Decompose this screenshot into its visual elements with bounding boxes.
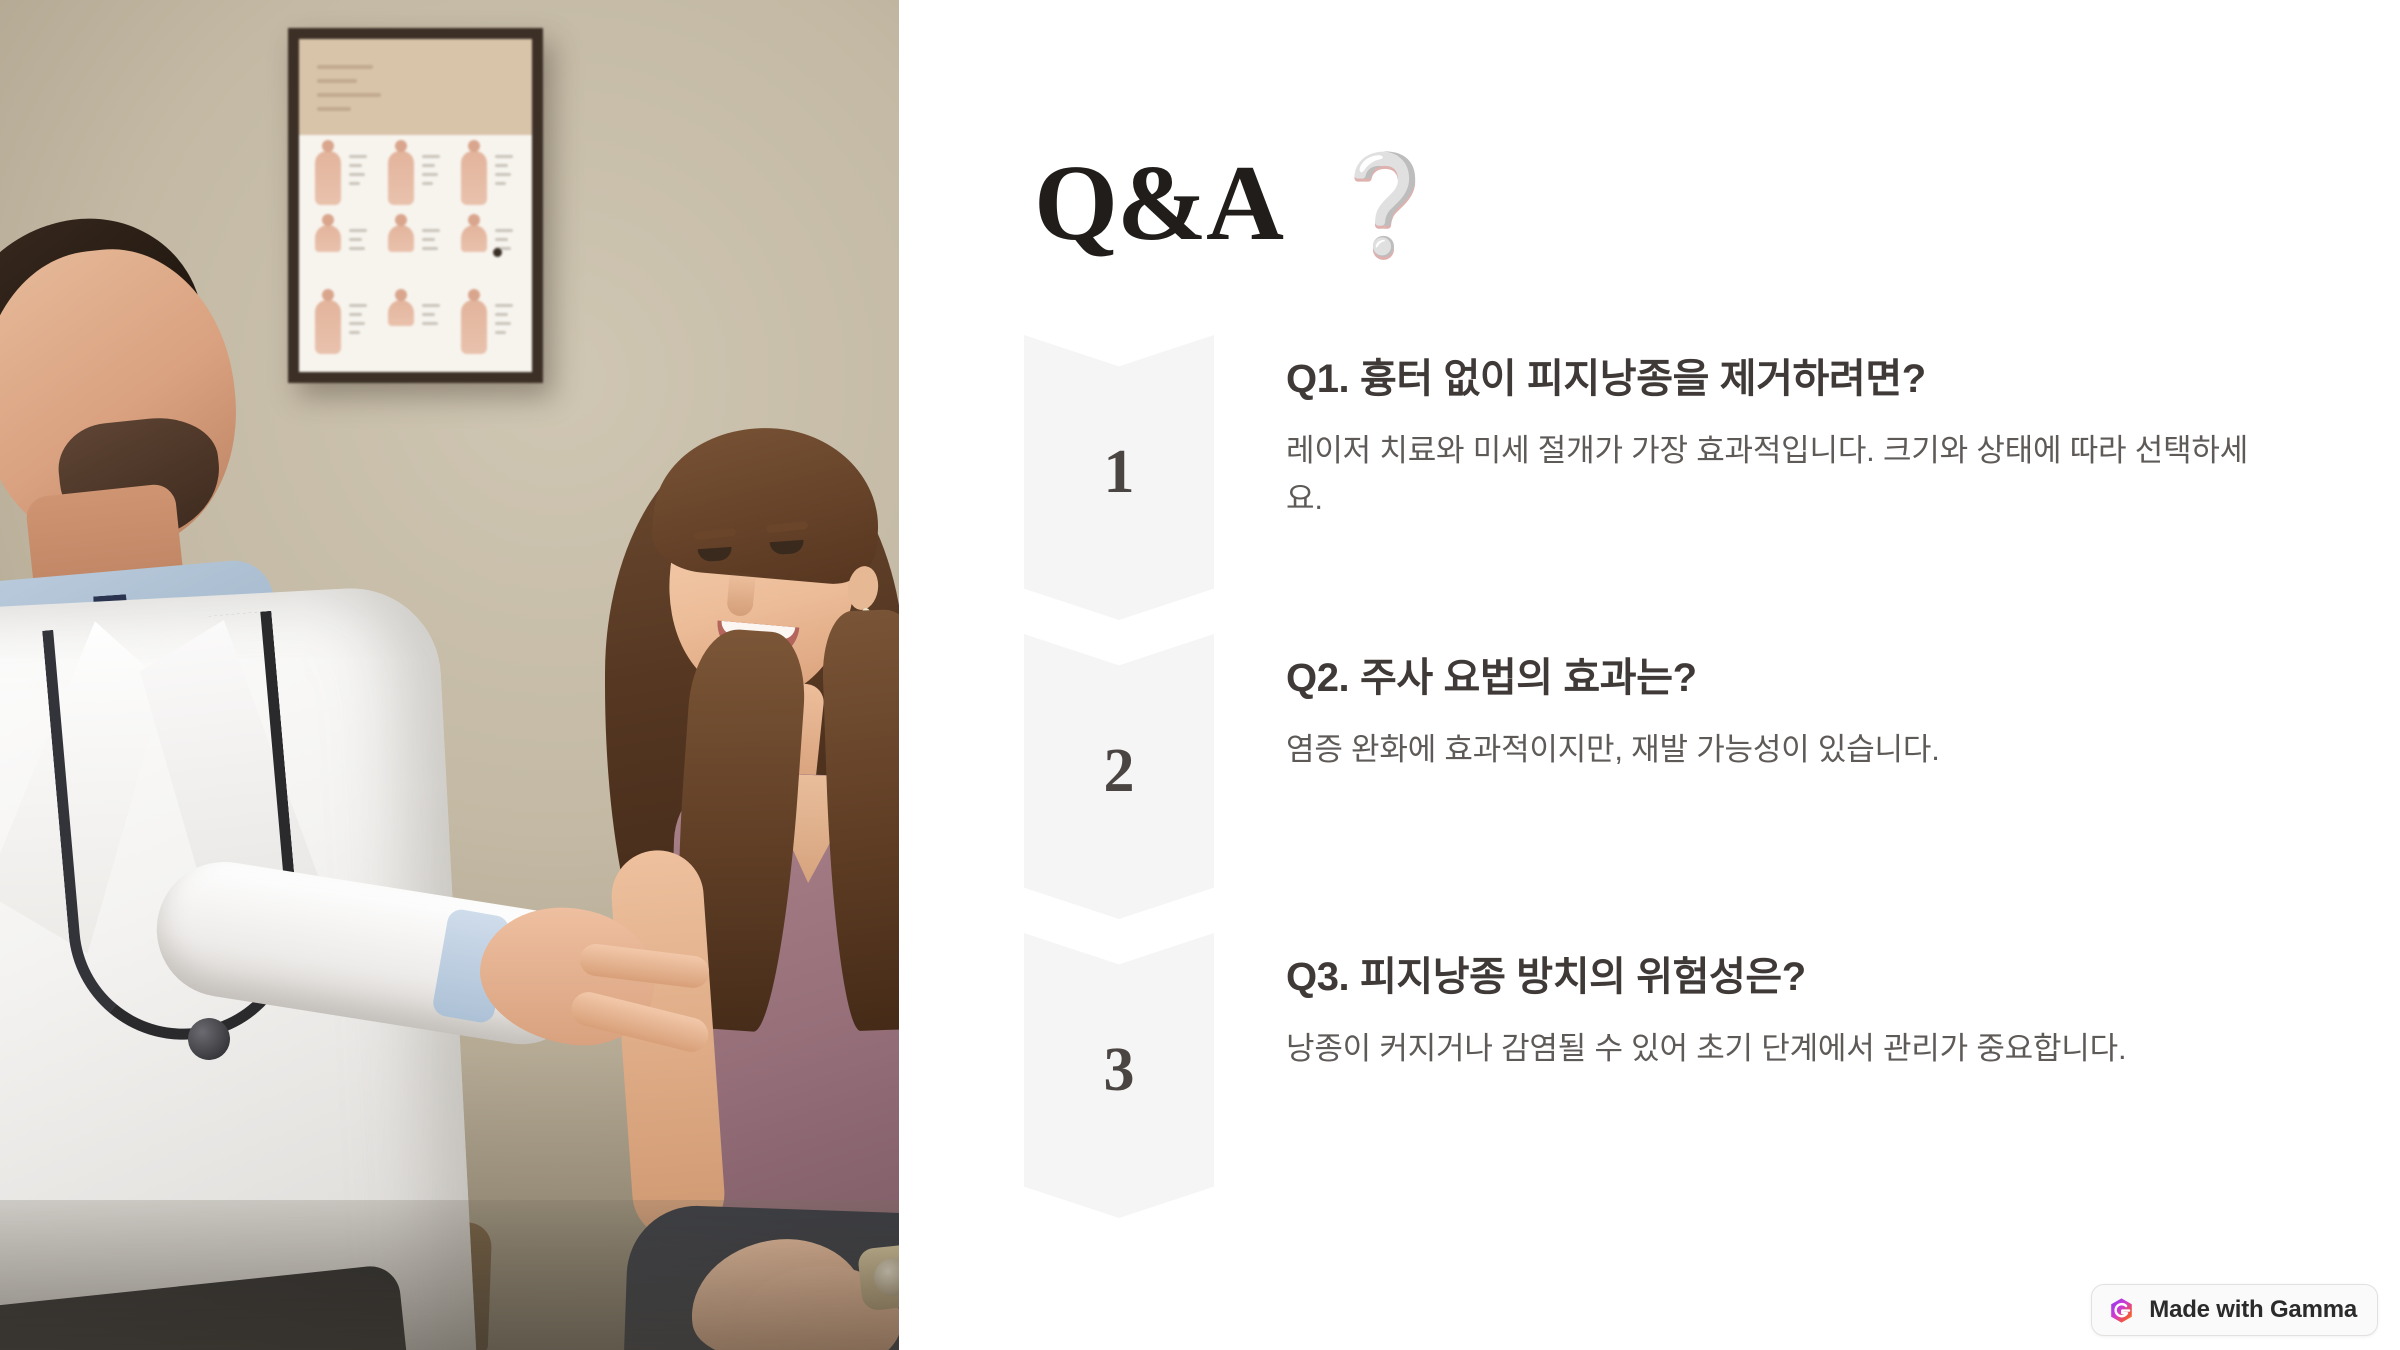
doctor-patient-photo	[0, 0, 899, 1350]
qa-item-1: 1 Q1. 흉터 없이 피지낭종을 제거하려면? 레이저 치료와 미세 절개가 …	[899, 335, 2400, 620]
qa-text-3: Q3. 피지낭종 방치의 위험성은? 낭종이 커지거나 감염될 수 있어 초기 …	[1214, 933, 2400, 1073]
gamma-hexagon-logo	[2108, 1297, 2135, 1324]
photo-scene	[0, 0, 899, 1350]
qa-number-1: 1	[1104, 441, 1135, 503]
qa-number-badge-3: 3	[1024, 933, 1214, 1218]
page-title-text: Q&A	[1034, 150, 1283, 258]
qa-question-2: Q2. 주사 요법의 효과는?	[1286, 652, 2250, 704]
made-with-gamma-label: Made with Gamma	[2149, 1296, 2357, 1324]
qa-number-badge-1: 1	[1024, 335, 1214, 620]
chart-header-band	[299, 39, 532, 135]
qa-number-3: 3	[1104, 1039, 1135, 1101]
qa-answer-2: 염증 완화에 효과적이지만, 재발 가능성이 있습니다.	[1286, 726, 2250, 774]
qa-number-badge-2: 2	[1024, 634, 1214, 919]
qa-number-2: 2	[1104, 740, 1135, 802]
qa-question-3: Q3. 피지낭종 방치의 위험성은?	[1286, 951, 2250, 1003]
qa-divider-2	[899, 919, 2400, 933]
qa-answer-3: 낭종이 커지거나 감염될 수 있어 초기 단계에서 관리가 중요합니다.	[1286, 1025, 2250, 1073]
slide-root: Q&A ❔ 1 Q1. 흉터 없이 피지낭종을 제거하려면? 레이저 치료와 미…	[0, 0, 2400, 1350]
red-question-mark-icon: ❔	[1325, 156, 1445, 252]
qa-question-1: Q1. 흉터 없이 피지낭종을 제거하려면?	[1286, 353, 2250, 405]
doctor-figure	[0, 150, 500, 1350]
qa-list: 1 Q1. 흉터 없이 피지낭종을 제거하려면? 레이저 치료와 미세 절개가 …	[899, 335, 2400, 1218]
qa-text-1: Q1. 흉터 없이 피지낭종을 제거하려면? 레이저 치료와 미세 절개가 가장…	[1214, 335, 2400, 523]
qa-answer-1: 레이저 치료와 미세 절개가 가장 효과적입니다. 크기와 상태에 따라 선택하…	[1286, 427, 2250, 523]
qa-item-2: 2 Q2. 주사 요법의 효과는? 염증 완화에 효과적이지만, 재발 가능성이…	[899, 634, 2400, 919]
floor-shadow	[0, 1200, 899, 1350]
made-with-gamma-badge[interactable]: Made with Gamma	[2091, 1284, 2378, 1336]
qa-divider-1	[899, 620, 2400, 634]
page-title: Q&A ❔	[1034, 150, 1445, 258]
qa-text-2: Q2. 주사 요법의 효과는? 염증 완화에 효과적이지만, 재발 가능성이 있…	[1214, 634, 2400, 774]
content-panel: Q&A ❔ 1 Q1. 흉터 없이 피지낭종을 제거하려면? 레이저 치료와 미…	[899, 0, 2400, 1350]
qa-item-3: 3 Q3. 피지낭종 방치의 위험성은? 낭종이 커지거나 감염될 수 있어 초…	[899, 933, 2400, 1218]
